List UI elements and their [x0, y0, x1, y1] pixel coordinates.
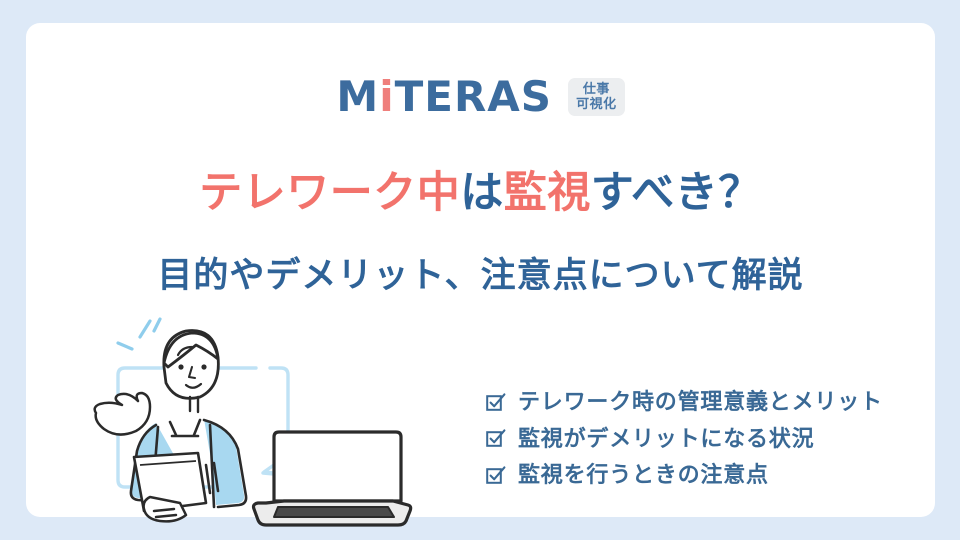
open-hand-icon [95, 393, 150, 435]
eye-right-icon [201, 364, 206, 369]
brand-logo: MiTERAS 仕事 可視化 [26, 76, 935, 118]
content-card: MiTERAS 仕事 可視化 テレワーク中は監視すべき？ 目的やデメリット、注意… [26, 23, 935, 517]
logo-tagline-badge: 仕事 可視化 [568, 78, 625, 116]
logo-wordmark: MiTERAS [336, 76, 552, 118]
emphasis-lines-icon [118, 319, 160, 349]
person-head [164, 331, 219, 412]
page-subtitle: 目的やデメリット、注意点について解説 [26, 256, 935, 296]
eye-left-icon [178, 364, 183, 369]
list-item-label: 監視がデメリットになる状況 [518, 425, 814, 453]
badge-line-1: 仕事 [583, 82, 610, 97]
logo-letter-i: i [379, 76, 394, 118]
title-part-wa: は [460, 169, 504, 217]
checkbox-checked-icon [485, 464, 507, 486]
list-item-label: 監視を行うときの注意点 [518, 461, 769, 489]
logo-letter-m: M [336, 76, 379, 118]
title-part-telework: テレワーク中 [199, 169, 460, 217]
list-item: テレワーク時の管理意義とメリット [485, 388, 883, 416]
checkbox-checked-icon [485, 391, 507, 413]
page-title: テレワーク中は監視すべき？ [26, 169, 935, 217]
list-item-label: テレワーク時の管理意義とメリット [518, 388, 883, 416]
person-presenting-with-laptop-illustration [88, 315, 428, 540]
title-part-kanshi: 監視 [504, 169, 591, 217]
slide-canvas: MiTERAS 仕事 可視化 テレワーク中は監視すべき？ 目的やデメリット、注意… [0, 0, 960, 540]
title-part-subeki: すべき？ [591, 169, 762, 217]
list-item: 監視を行うときの注意点 [485, 461, 883, 489]
checkbox-checked-icon [485, 427, 507, 449]
illustration-svg [88, 315, 428, 540]
badge-line-2: 可視化 [576, 97, 617, 112]
logo-letters-teras: TERAS [395, 76, 552, 118]
list-item: 監視がデメリットになる状況 [485, 425, 883, 453]
topic-list: テレワーク時の管理意義とメリット 監視がデメリットになる状況 監視を行うときの注… [485, 388, 883, 489]
laptop-icon [254, 432, 411, 525]
